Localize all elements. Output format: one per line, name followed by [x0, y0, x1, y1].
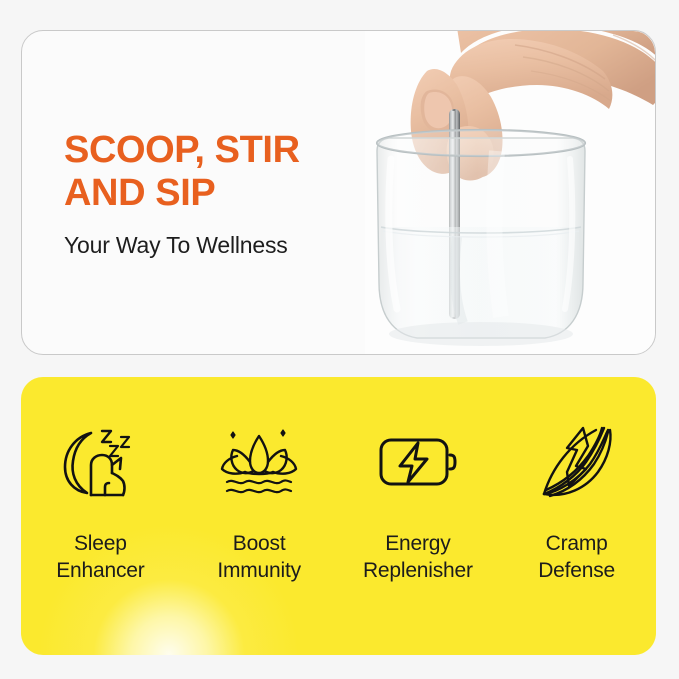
benefit-item-boost-immunity[interactable]: Boost Immunity	[184, 421, 334, 585]
benefit-label-boost-immunity: Boost Immunity	[217, 531, 301, 585]
benefit-item-energy-replenisher[interactable]: Energy Replenisher	[343, 421, 493, 585]
product-infographic-stage: SCOOP, STIR AND SIP Your Way To Wellness	[0, 0, 679, 679]
hand-stirring-glass-of-water-photo	[365, 31, 655, 355]
page-title: SCOOP, STIR AND SIP	[64, 129, 394, 216]
benefit-item-sleep-enhancer[interactable]: Sleep Enhancer	[25, 421, 175, 585]
benefit-label-energy-replenisher: Energy Replenisher	[363, 531, 473, 585]
benefit-item-cramp-defense[interactable]: Cramp Defense	[502, 421, 652, 585]
benefits-list: Sleep Enhancer	[21, 377, 656, 655]
battery-lightning-bolt-icon	[375, 421, 461, 503]
benefit-label-cramp-defense: Cramp Defense	[538, 531, 615, 585]
hero-subtitle: Your Way To Wellness	[64, 232, 394, 260]
benefits-card: Sleep Enhancer	[21, 377, 656, 655]
hero-text-block: SCOOP, STIR AND SIP Your Way To Wellness	[64, 129, 394, 259]
hero-card: SCOOP, STIR AND SIP Your Way To Wellness	[21, 30, 656, 355]
muscle-lightning-bolt-icon	[534, 421, 620, 503]
benefit-label-sleep-enhancer: Sleep Enhancer	[56, 531, 144, 585]
sleep-moon-cat-zzz-icon	[57, 421, 143, 503]
lotus-flower-water-icon	[216, 421, 302, 503]
